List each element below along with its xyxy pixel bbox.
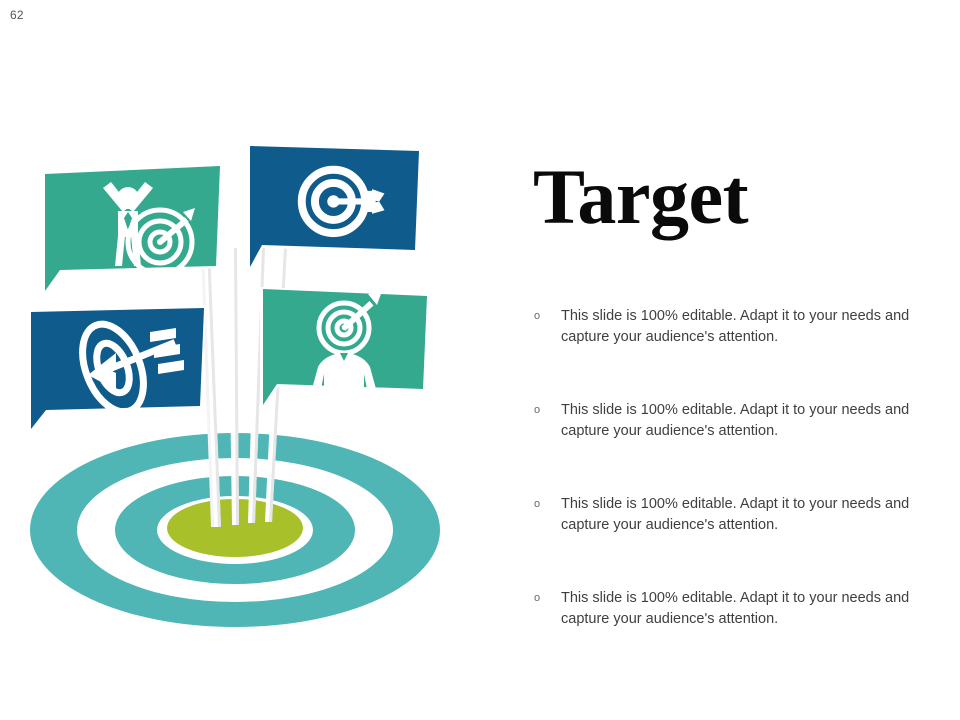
bullet-marker-icon: o — [534, 494, 540, 515]
list-item-text: This slide is 100% editable. Adapt it to… — [561, 588, 913, 630]
bullet-marker-icon: o — [534, 306, 540, 327]
list-item: o This slide is 100% editable. Adapt it … — [533, 588, 913, 630]
list-item: o This slide is 100% editable. Adapt it … — [533, 306, 913, 348]
content-column: Target o This slide is 100% editable. Ad… — [533, 160, 933, 630]
list-item-text: This slide is 100% editable. Adapt it to… — [561, 494, 913, 536]
list-item: o This slide is 100% editable. Adapt it … — [533, 494, 913, 536]
flag-blue-top-right — [247, 144, 421, 272]
flag-green-bottom-right — [260, 287, 429, 418]
bullet-list: o This slide is 100% editable. Adapt it … — [533, 306, 933, 630]
bullet-marker-icon: o — [534, 400, 540, 421]
bullet-marker-icon: o — [534, 588, 540, 609]
flag-green-top-left — [42, 164, 222, 296]
flag-blue-bottom-left — [28, 306, 206, 434]
target-flags-graphic — [0, 120, 500, 640]
page-number: 62 — [10, 8, 24, 22]
list-item: o This slide is 100% editable. Adapt it … — [533, 400, 913, 442]
slide-canvas: 62 — [0, 0, 960, 720]
list-item-text: This slide is 100% editable. Adapt it to… — [561, 400, 913, 442]
page-title: Target — [533, 160, 933, 234]
list-item-text: This slide is 100% editable. Adapt it to… — [561, 306, 913, 348]
